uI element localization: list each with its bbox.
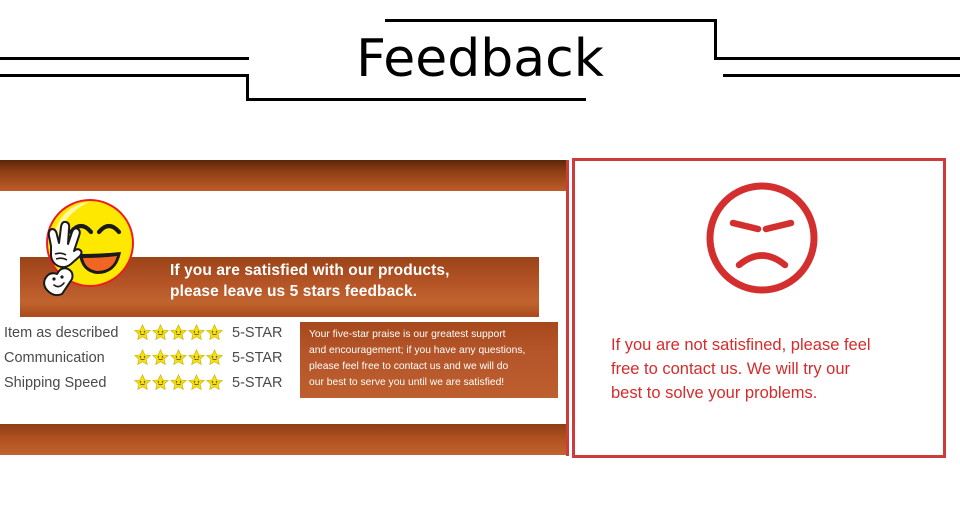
header-rule-top-center xyxy=(385,19,717,22)
star-icon xyxy=(134,349,151,366)
star-icon xyxy=(206,349,223,366)
panel-top-bar xyxy=(0,160,566,191)
smiley-face-icon xyxy=(33,192,137,300)
star-icon xyxy=(152,349,169,366)
star-icon xyxy=(188,324,205,341)
note-line-2: and encouragement; if you have any quest… xyxy=(309,343,550,359)
rating-row: Shipping Speed 5-STAR xyxy=(4,372,294,393)
message-line-2: free to contact us. We will try our xyxy=(611,357,931,381)
star-icon xyxy=(206,324,223,341)
star-icon xyxy=(152,324,169,341)
star-icon xyxy=(188,349,205,366)
praise-note-text: Your five-star praise is our greatest su… xyxy=(309,327,550,391)
note-line-4: our best to serve you until we are satis… xyxy=(309,375,550,391)
panel-bottom-bar xyxy=(0,424,566,455)
star-icon xyxy=(206,374,223,391)
star-icon xyxy=(170,374,187,391)
rating-stars xyxy=(134,349,226,366)
message-line-1: If you are not satisfined, please feel xyxy=(611,333,931,357)
star-icon xyxy=(170,324,187,341)
star-icon xyxy=(134,324,151,341)
page-header: Feedback xyxy=(0,0,960,150)
ratings-list: Item as described 5-STAR Communication 5… xyxy=(4,322,294,397)
note-line-3: please feel free to contact us and we wi… xyxy=(309,359,550,375)
rating-stars xyxy=(134,324,226,341)
star-icon xyxy=(152,374,169,391)
rating-value: 5-STAR xyxy=(232,375,283,391)
positive-feedback-panel: If you are satisfied with our products, … xyxy=(0,160,569,456)
note-line-1: Your five-star praise is our greatest su… xyxy=(309,327,550,343)
praise-note-box: Your five-star praise is our greatest su… xyxy=(300,322,558,398)
rating-label: Communication xyxy=(4,350,134,366)
rating-value: 5-STAR xyxy=(232,325,283,341)
header-rule-center-bottom xyxy=(246,98,586,101)
banner-line-1: If you are satisfied with our products, xyxy=(170,260,540,281)
page-title: Feedback xyxy=(0,28,960,90)
satisfied-banner-text: If you are satisfied with our products, … xyxy=(170,260,540,302)
sad-face-icon xyxy=(703,179,821,297)
rating-row: Communication 5-STAR xyxy=(4,347,294,368)
message-line-3: best to solve your problems. xyxy=(611,381,931,405)
banner-line-2: please leave us 5 stars feedback. xyxy=(170,281,540,302)
rating-stars xyxy=(134,374,226,391)
star-icon xyxy=(170,349,187,366)
negative-feedback-panel: If you are not satisfined, please feel f… xyxy=(572,158,946,458)
rating-row: Item as described 5-STAR xyxy=(4,322,294,343)
star-icon xyxy=(134,374,151,391)
rating-label: Item as described xyxy=(4,325,134,341)
rating-value: 5-STAR xyxy=(232,350,283,366)
not-satisfied-message: If you are not satisfined, please feel f… xyxy=(611,333,931,405)
rating-label: Shipping Speed xyxy=(4,375,134,391)
star-icon xyxy=(188,374,205,391)
